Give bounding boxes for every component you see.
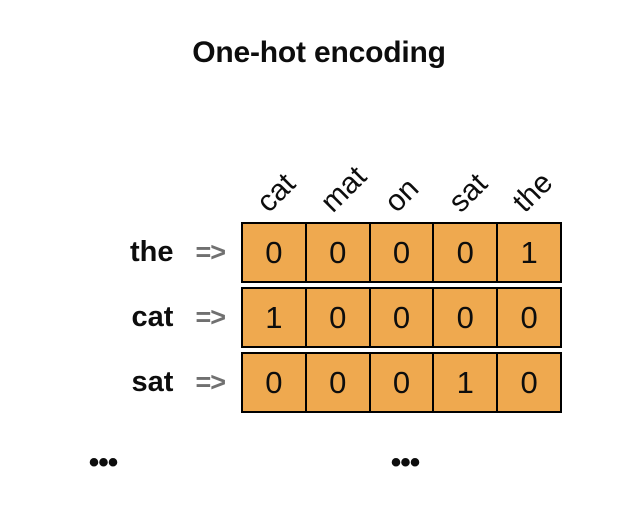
matrix-cell: 0 [433, 222, 497, 283]
matrix-cell: 0 [241, 222, 306, 283]
column-header-row: cat mat on sat the [241, 118, 562, 218]
matrix-cell: 0 [433, 287, 497, 348]
row-label-sat: sat => [0, 352, 241, 413]
column-header-label: on [380, 173, 425, 218]
row-continuation-ellipsis: ••• [73, 448, 133, 478]
matrix-cell: 0 [370, 222, 434, 283]
matrix-cell: 1 [497, 222, 562, 283]
matrix-cell: 0 [497, 352, 562, 413]
row-label-cat: cat => [0, 287, 241, 348]
matrix-cell: 0 [497, 287, 562, 348]
one-hot-matrix: 0 0 0 0 1 1 0 0 0 0 0 0 0 1 0 [241, 222, 562, 413]
column-header-sat: sat [433, 118, 497, 218]
maps-to-arrow-icon: => [195, 304, 225, 331]
column-header-mat: mat [305, 118, 369, 218]
matrix-cell: 0 [241, 352, 306, 413]
one-hot-encoding-figure: One-hot encoding cat mat on sat the the … [0, 0, 638, 522]
matrix-cell: 0 [306, 287, 370, 348]
maps-to-arrow-icon: => [195, 239, 225, 266]
row-label-word: cat [132, 303, 174, 332]
table-row: 0 0 0 0 1 [241, 222, 562, 283]
column-header-label: mat [316, 161, 373, 218]
column-header-label: the [508, 167, 559, 218]
row-label-column: the => cat => sat => [0, 222, 241, 414]
matrix-cell: 1 [241, 287, 306, 348]
row-label-word: sat [132, 368, 174, 397]
matrix-cell: 0 [370, 352, 434, 413]
matrix-cell: 0 [370, 287, 434, 348]
column-header-the: the [497, 118, 561, 218]
column-header-label: sat [444, 168, 494, 218]
maps-to-arrow-icon: => [195, 369, 225, 396]
row-label-word: the [130, 238, 174, 267]
matrix-cell: 1 [433, 352, 497, 413]
row-label-the: the => [0, 222, 241, 283]
table-row: 0 0 0 1 0 [241, 352, 562, 413]
matrix-cell: 0 [306, 222, 370, 283]
table-row: 1 0 0 0 0 [241, 287, 562, 348]
column-header-cat: cat [241, 118, 305, 218]
column-header-label: cat [252, 168, 302, 218]
matrix-continuation-ellipsis: ••• [375, 448, 435, 478]
column-header-on: on [369, 118, 433, 218]
matrix-cell: 0 [306, 352, 370, 413]
page-title: One-hot encoding [0, 36, 638, 70]
